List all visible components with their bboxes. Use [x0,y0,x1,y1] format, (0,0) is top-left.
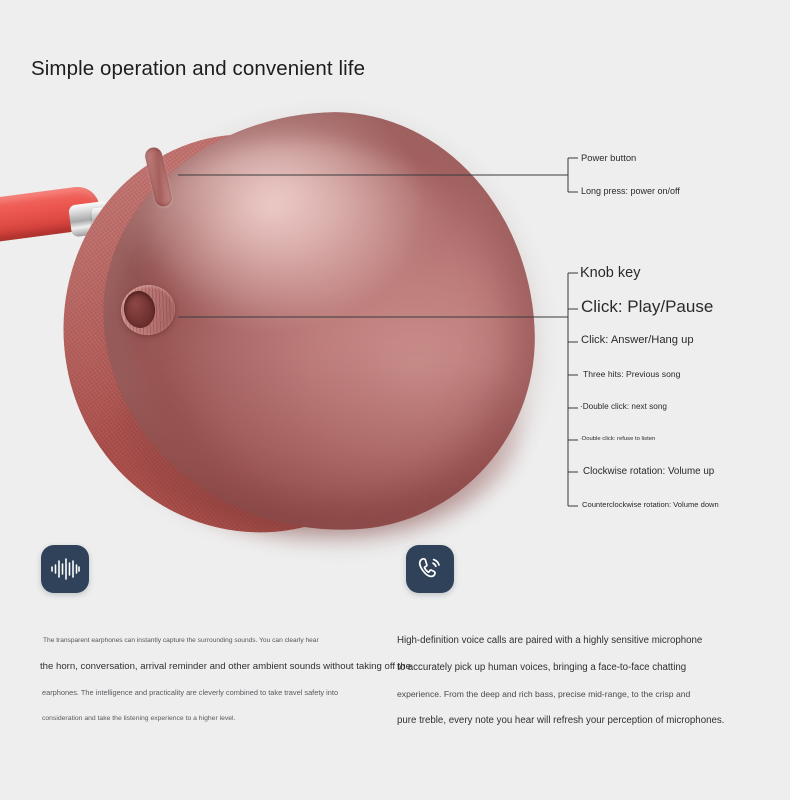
callout-label-double-click-next: ·Double click: next song [580,402,667,411]
feature-right-line-1: High-definition voice calls are paired w… [397,628,724,655]
callout-label-double-click-refuse: ·Double click: refuse to listen [580,436,655,442]
feature-left-line-2: the horn, conversation, arrival reminder… [40,654,411,680]
callout-label-power-button: Power button [581,152,636,163]
feature-right-line-4: pure treble, every note you hear will re… [397,708,724,735]
phone-call-icon [406,545,454,593]
feature-right-line-2: to accurately pick up human voices, brin… [397,655,724,682]
callout-label-three-hits-previous: Three hits: Previous song [583,369,680,379]
callout-label-knob-key: Knob key [580,265,640,281]
page-title: Simple operation and convenient life [31,57,365,81]
callout-label-long-press: Long press: power on/off [581,186,680,196]
callout-label-clockwise-volume-up: Clockwise rotation: Volume up [583,466,714,477]
feature-left-line-4: consideration and take the listening exp… [40,706,411,732]
feature-description-right: High-definition voice calls are paired w… [397,628,724,734]
feature-left-line-3: earphones. The intelligence and practica… [40,680,411,706]
feature-description-left: The transparent earphones can instantly … [40,628,411,732]
callout-label-click-answer-hangup: Click: Answer/Hang up [581,334,694,346]
product-illustration [0,105,570,545]
callout-label-click-play-pause: Click: Play/Pause [581,297,713,317]
feature-right-line-3: experience. From the deep and rich bass,… [397,681,724,708]
product-feature-page: Simple operation and convenient life [0,0,790,800]
waveform-icon [41,545,89,593]
feature-left-line-1: The transparent earphones can instantly … [40,628,411,654]
callout-label-counterclockwise-volume-down: Counterclockwise rotation: Volume down [582,500,719,509]
